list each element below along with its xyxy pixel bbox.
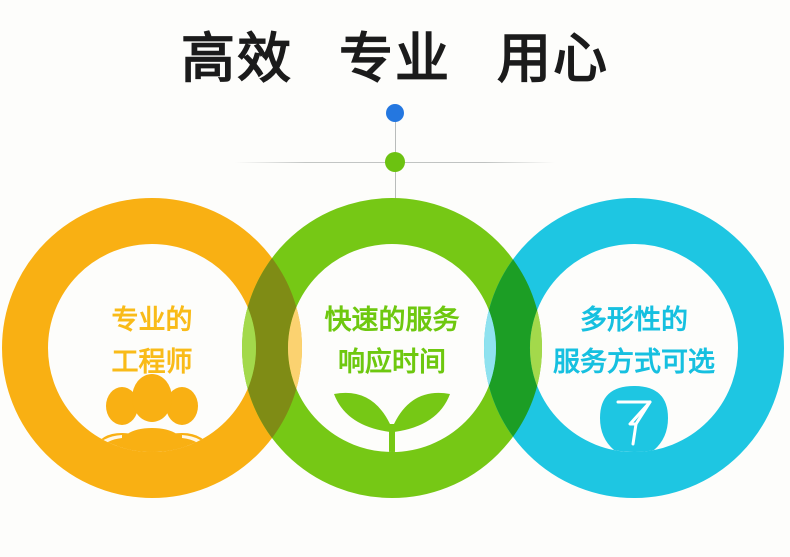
caption-line: 服务方式可选	[519, 342, 749, 384]
circle-caption-engineers: 专业的 工程师	[52, 300, 252, 384]
caption-line: 专业的	[52, 300, 252, 342]
circle-caption-service-modes: 多形性的 服务方式可选	[519, 300, 749, 384]
poster-canvas: 高效专业用心	[0, 0, 790, 557]
caption-line: 快速的服务	[282, 300, 502, 342]
caption-line: 工程师	[52, 342, 252, 384]
circle-caption-response-time: 快速的服务 响应时间	[282, 300, 502, 384]
venn-rings-graphic	[0, 0, 790, 557]
caption-line: 多形性的	[519, 300, 749, 342]
caption-line: 响应时间	[282, 342, 502, 384]
